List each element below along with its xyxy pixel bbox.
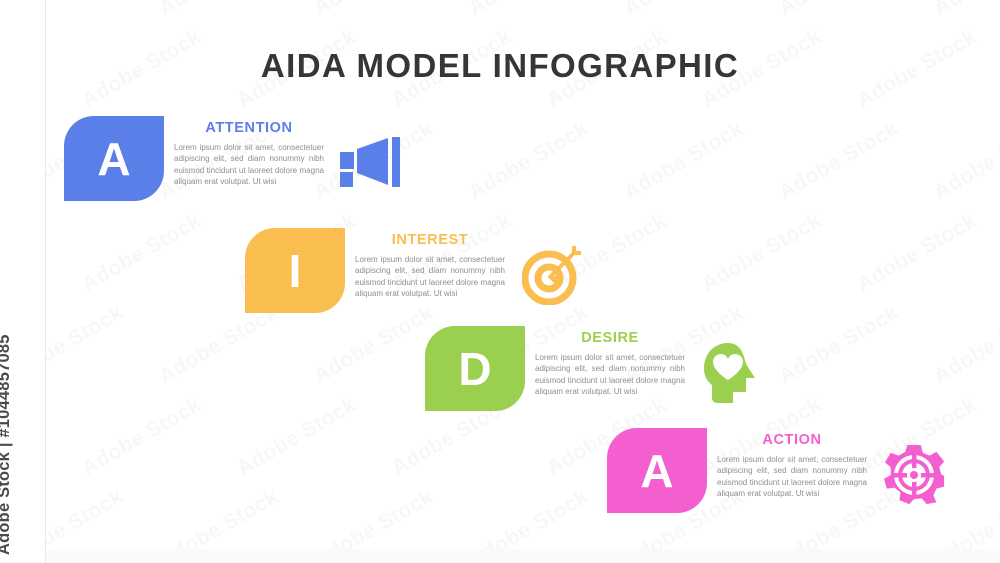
- step-badge-interest: I: [245, 228, 345, 313]
- stock-watermark-label: Adobe Stock | #1044857085: [0, 334, 14, 555]
- step-heading: ATTENTION: [174, 120, 324, 136]
- stock-sidebar: Adobe Stock | #1044857085: [0, 0, 46, 563]
- gear-icon: [881, 442, 947, 508]
- step-letter: D: [458, 346, 491, 392]
- step-action: A ACTION Lorem ipsum dolor sit amet, con…: [607, 428, 947, 513]
- step-body: Lorem ipsum dolor sit amet, consectetuer…: [717, 454, 867, 499]
- step-interest: I INTEREST Lorem ipsum dolor sit amet, c…: [245, 228, 585, 313]
- step-body: Lorem ipsum dolor sit amet, consectetuer…: [174, 142, 324, 187]
- step-badge-action: A: [607, 428, 707, 513]
- step-text-interest: INTEREST Lorem ipsum dolor sit amet, con…: [355, 228, 505, 299]
- step-letter: A: [97, 136, 130, 182]
- step-badge-attention: A: [64, 116, 164, 201]
- step-badge-desire: D: [425, 326, 525, 411]
- step-text-attention: ATTENTION Lorem ipsum dolor sit amet, co…: [174, 116, 324, 187]
- step-heading: ACTION: [717, 432, 867, 448]
- target-icon: [519, 242, 585, 308]
- step-letter: I: [289, 248, 302, 294]
- sidebar-divider: [45, 0, 46, 563]
- head-heart-icon: [699, 340, 765, 406]
- step-desire: D DESIRE Lorem ipsum dolor sit amet, con…: [425, 326, 765, 411]
- step-letter: A: [640, 448, 673, 494]
- page-title: AIDA MODEL INFOGRAPHIC: [0, 47, 1000, 85]
- step-text-desire: DESIRE Lorem ipsum dolor sit amet, conse…: [535, 326, 685, 397]
- step-body: Lorem ipsum dolor sit amet, consectetuer…: [535, 352, 685, 397]
- step-body: Lorem ipsum dolor sit amet, consectetuer…: [355, 254, 505, 299]
- step-heading: DESIRE: [535, 330, 685, 346]
- step-attention: A ATTENTION Lorem ipsum dolor sit amet, …: [64, 116, 404, 201]
- megaphone-icon: [338, 130, 404, 196]
- step-heading: INTEREST: [355, 232, 505, 248]
- step-text-action: ACTION Lorem ipsum dolor sit amet, conse…: [717, 428, 867, 499]
